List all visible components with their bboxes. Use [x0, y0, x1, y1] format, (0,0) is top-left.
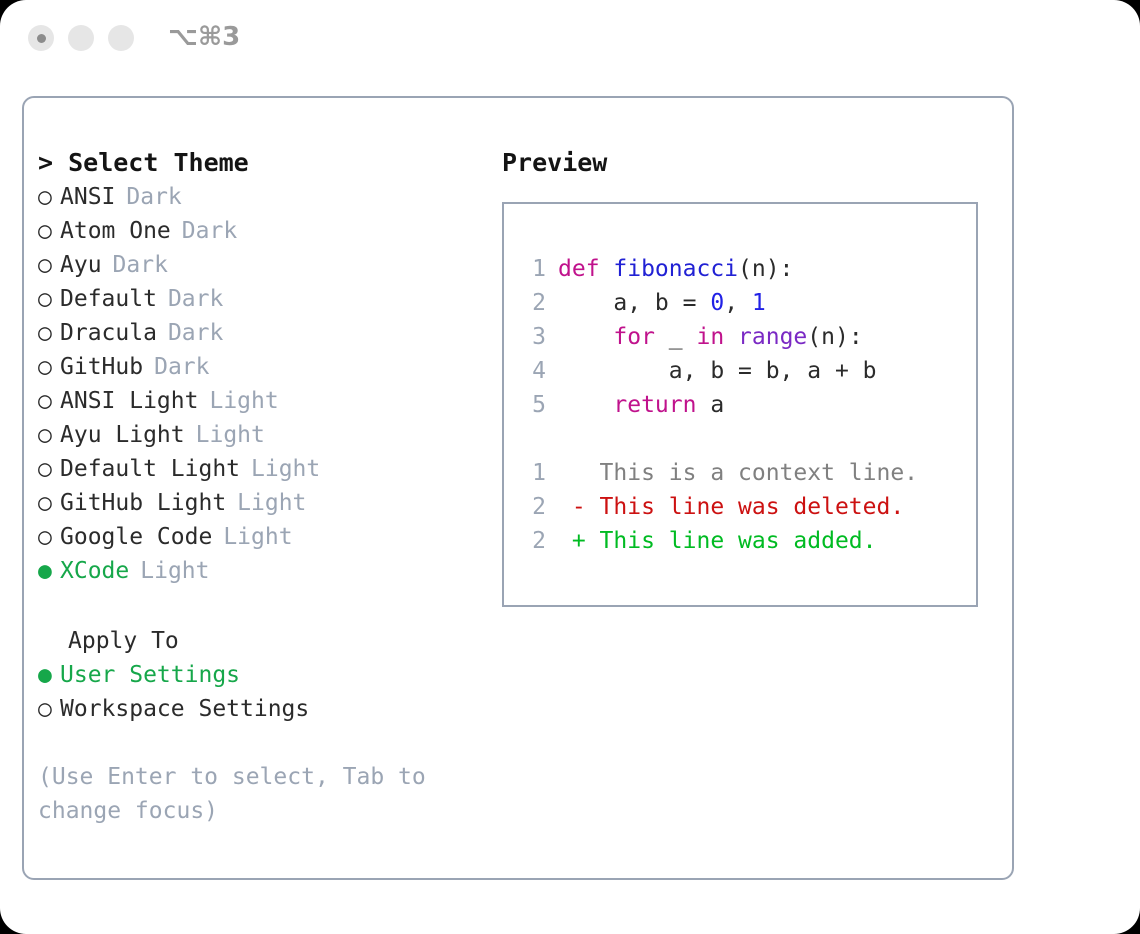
code-token-pl: _ [655, 324, 697, 350]
code-line-text: - This line was deleted. [558, 490, 904, 524]
code-token-pl: a [696, 392, 724, 418]
theme-name-label: Ayu Light [60, 418, 185, 452]
theme-kind-badge: Light [237, 486, 306, 520]
theme-list-item[interactable]: ○DraculaDark [38, 316, 478, 350]
code-token-ctx: This is a context line. [558, 460, 918, 486]
content-panel: > Select Theme ○ANSIDark○Atom OneDark○Ay… [22, 96, 1014, 880]
title-bar: ⌥⌘3 [0, 0, 1140, 80]
theme-name-label: GitHub [60, 350, 143, 384]
line-number: 5 [518, 388, 546, 422]
theme-selector-column: > Select Theme ○ANSIDark○Atom OneDark○Ay… [38, 146, 478, 828]
code-line-text: return a [558, 388, 724, 422]
line-number: 2 [518, 286, 546, 320]
theme-name-label: GitHub Light [60, 486, 226, 520]
line-number: 1 [518, 456, 546, 490]
code-token-kw: return [613, 392, 696, 418]
code-token-pl: a, b = b, a + b [558, 358, 877, 384]
theme-kind-badge: Light [140, 554, 209, 588]
theme-kind-badge: Dark [154, 350, 209, 384]
code-token-pl: , [724, 290, 752, 316]
code-line: 1def fibonacci(n): [504, 252, 976, 286]
code-line: 4 a, b = b, a + b [504, 354, 976, 388]
radio-unselected-icon: ○ [38, 384, 60, 418]
line-number: 2 [518, 524, 546, 558]
theme-list-item[interactable]: ○Atom OneDark [38, 214, 478, 248]
line-number: 2 [518, 490, 546, 524]
code-line: 2 a, b = 0, 1 [504, 286, 976, 320]
theme-section-title: > Select Theme [38, 146, 478, 180]
theme-kind-badge: Dark [113, 248, 168, 282]
code-token-fn: fibonacci [613, 256, 738, 282]
radio-unselected-icon: ○ [38, 486, 60, 520]
theme-list: ○ANSIDark○Atom OneDark○AyuDark○DefaultDa… [38, 180, 478, 588]
theme-list-item[interactable]: ○AyuDark [38, 248, 478, 282]
code-line-text: This is a context line. [558, 456, 918, 490]
theme-kind-badge: Light [196, 418, 265, 452]
line-number: 3 [518, 320, 546, 354]
theme-name-label: Ayu [60, 248, 102, 282]
radio-unselected-icon: ○ [38, 350, 60, 384]
radio-unselected-icon: ○ [38, 248, 60, 282]
diff-sample: 1 This is a context line.2 - This line w… [504, 456, 976, 558]
theme-kind-badge: Dark [182, 214, 237, 248]
keyboard-shortcut-label: ⌥⌘3 [168, 22, 240, 52]
code-line-text: a, b = b, a + b [558, 354, 877, 388]
code-token-call: range [738, 324, 807, 350]
line-number: 4 [518, 354, 546, 388]
radio-selected-icon: ● [38, 658, 60, 692]
radio-unselected-icon: ○ [38, 316, 60, 350]
keyboard-hint-text: (Use Enter to select, Tab to change focu… [38, 760, 448, 828]
radio-unselected-icon: ○ [38, 692, 60, 726]
theme-name-label: ANSI Light [60, 384, 198, 418]
theme-list-item[interactable]: ○GitHub LightLight [38, 486, 478, 520]
theme-name-label: Google Code [60, 520, 212, 554]
code-line-text: def fibonacci(n): [558, 252, 793, 286]
code-token-pl [724, 324, 738, 350]
theme-name-label: Atom One [60, 214, 171, 248]
traffic-light-group [28, 25, 134, 51]
radio-unselected-icon: ○ [38, 452, 60, 486]
app-window: ⌥⌘3 > Select Theme ○ANSIDark○Atom OneDar… [0, 0, 1140, 934]
code-line-text: a, b = 0, 1 [558, 286, 766, 320]
code-line-text: + This line was added. [558, 524, 877, 558]
theme-name-label: ANSI [60, 180, 115, 214]
code-line: 5 return a [504, 388, 976, 422]
apply-to-options: ●User Settings○Workspace Settings [38, 658, 478, 726]
code-token-pl: (n): [807, 324, 862, 350]
theme-list-item[interactable]: ○Ayu LightLight [38, 418, 478, 452]
theme-kind-badge: Light [251, 452, 320, 486]
window-close-button[interactable] [28, 25, 54, 51]
radio-unselected-icon: ○ [38, 520, 60, 554]
apply-to-heading: Apply To [38, 624, 478, 658]
diff-line: 1 This is a context line. [504, 456, 976, 490]
preview-title: Preview [502, 146, 1002, 180]
code-line: 3 for _ in range(n): [504, 320, 976, 354]
diff-line: 2 + This line was added. [504, 524, 976, 558]
line-number: 1 [518, 252, 546, 286]
apply-to-label: User Settings [60, 658, 240, 692]
code-token-kw: for [613, 324, 655, 350]
radio-unselected-icon: ○ [38, 282, 60, 316]
preview-code-box: 1def fibonacci(n):2 a, b = 0, 13 for _ i… [502, 202, 978, 607]
theme-list-item[interactable]: ○ANSI LightLight [38, 384, 478, 418]
radio-unselected-icon: ○ [38, 214, 60, 248]
theme-list-item[interactable]: ○Google CodeLight [38, 520, 478, 554]
code-token-add: + This line was added. [558, 528, 877, 554]
theme-list-item[interactable]: ○GitHubDark [38, 350, 478, 384]
window-minimize-button[interactable] [68, 25, 94, 51]
theme-list-item[interactable]: ●XCodeLight [38, 554, 478, 588]
theme-name-label: Dracula [60, 316, 157, 350]
theme-kind-badge: Light [223, 520, 292, 554]
code-token-pl [558, 392, 613, 418]
code-token-del: - This line was deleted. [558, 494, 904, 520]
code-token-pl: (n): [738, 256, 793, 282]
radio-unselected-icon: ○ [38, 418, 60, 452]
apply-to-option[interactable]: ○Workspace Settings [38, 692, 478, 726]
radio-selected-icon: ● [38, 554, 60, 588]
code-sample: 1def fibonacci(n):2 a, b = 0, 13 for _ i… [504, 252, 976, 422]
theme-list-item[interactable]: ○ANSIDark [38, 180, 478, 214]
code-token-kw: in [696, 324, 724, 350]
diff-line: 2 - This line was deleted. [504, 490, 976, 524]
code-token-num: 1 [752, 290, 766, 316]
code-spacer [504, 422, 976, 456]
code-token-kw: def [558, 256, 613, 282]
theme-kind-badge: Light [209, 384, 278, 418]
apply-to-section: Apply To ●User Settings○Workspace Settin… [38, 624, 478, 726]
theme-kind-badge: Dark [168, 282, 223, 316]
code-token-pl: a, b = [558, 290, 710, 316]
theme-kind-badge: Dark [126, 180, 181, 214]
theme-name-label: Default Light [60, 452, 240, 486]
window-maximize-button[interactable] [108, 25, 134, 51]
theme-list-item[interactable]: ○DefaultDark [38, 282, 478, 316]
preview-column: Preview 1def fibonacci(n):2 a, b = 0, 13… [502, 146, 1002, 607]
apply-to-option[interactable]: ●User Settings [38, 658, 478, 692]
code-line-text: for _ in range(n): [558, 320, 863, 354]
theme-name-label: Default [60, 282, 157, 316]
code-token-num: 0 [710, 290, 724, 316]
theme-name-label: XCode [60, 554, 129, 588]
code-token-pl [558, 324, 613, 350]
theme-kind-badge: Dark [168, 316, 223, 350]
apply-to-label: Workspace Settings [60, 692, 309, 726]
theme-list-item[interactable]: ○Default LightLight [38, 452, 478, 486]
radio-unselected-icon: ○ [38, 180, 60, 214]
